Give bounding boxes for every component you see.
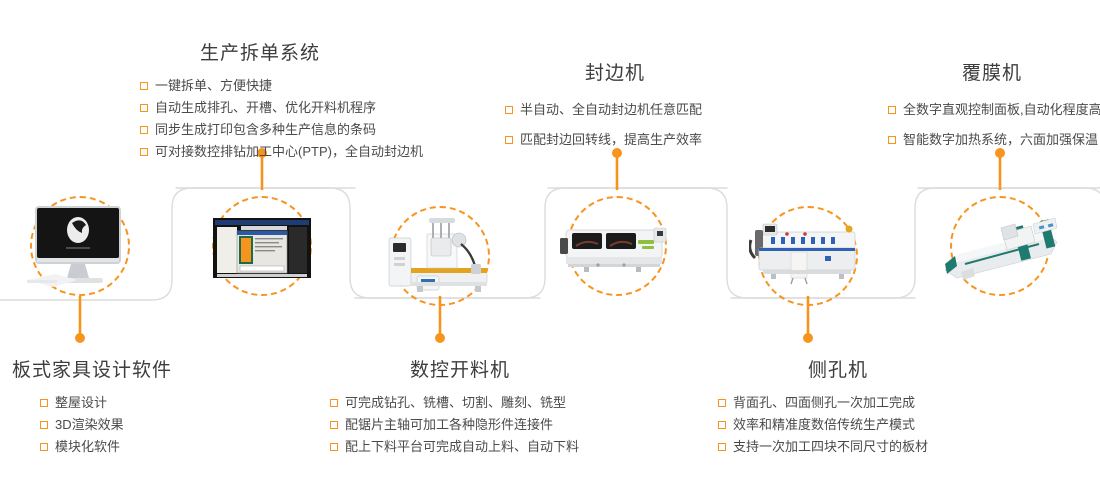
- list-item: 3D渲染效果: [40, 414, 172, 436]
- checkbox-icon: [718, 399, 726, 407]
- list-item: 自动生成排孔、开槽、优化开料机程序: [140, 97, 423, 119]
- feature-list: 可完成钻孔、铣槽、切割、雕刻、铣型 配锯片主轴可加工各种隐形件连接件 配上下料平…: [330, 392, 590, 458]
- checkbox-icon: [140, 82, 148, 90]
- checkbox-icon: [330, 443, 338, 451]
- checkbox-icon: [40, 399, 48, 407]
- edge-bander-icon: [558, 200, 676, 292]
- node-side-hole[interactable]: [758, 206, 858, 306]
- list-item: 可对接数控排钻加工中心(PTP)，全自动封边机: [140, 141, 423, 163]
- list-item-label: 配上下料平台可完成自动上料、自动下料: [345, 436, 579, 458]
- side-drill-icon: [749, 210, 867, 302]
- checkbox-icon: [330, 421, 338, 429]
- checkbox-icon: [888, 136, 896, 144]
- node-edge-banding[interactable]: [567, 196, 667, 296]
- list-item: 全数字直观控制面板,自动化程度高: [888, 95, 1100, 125]
- list-item: 配锯片主轴可加工各种隐形件连接件: [330, 414, 590, 436]
- list-item: 配上下料平台可完成自动上料、自动下料: [330, 436, 590, 458]
- list-item-label: 可对接数控排钻加工中心(PTP)，全自动封边机: [155, 141, 423, 163]
- checkbox-icon: [330, 399, 338, 407]
- list-item: 同步生成打印包含多种生产信息的条码: [140, 119, 423, 141]
- checkbox-icon: [140, 148, 148, 156]
- list-item-label: 全数字直观控制面板,自动化程度高: [903, 95, 1100, 125]
- list-item: 效率和精准度数倍传统生产模式: [718, 414, 958, 436]
- list-item: 支持一次加工四块不同尺寸的板材: [718, 436, 958, 458]
- block-title: 封边机: [505, 58, 725, 85]
- checkbox-icon: [505, 136, 513, 144]
- block-edge-banding: 封边机 半自动、全自动封边机任意匹配 匹配封边回转线，提高生产效率: [505, 58, 725, 155]
- feature-list: 整屋设计 3D渲染效果 模块化软件: [12, 392, 172, 458]
- block-title: 侧孔机: [718, 355, 958, 382]
- cnc-router-icon: [381, 210, 499, 302]
- block-laminating: 覆膜机 全数字直观控制面板,自动化程度高 智能数字加热系统，六面加强保温: [888, 58, 1100, 155]
- list-item-label: 智能数字加热系统，六面加强保温: [903, 125, 1098, 155]
- feature-list: 全数字直观控制面板,自动化程度高 智能数字加热系统，六面加强保温: [888, 95, 1100, 155]
- list-item-label: 3D渲染效果: [55, 414, 124, 436]
- node-design-software[interactable]: [30, 196, 130, 296]
- checkbox-icon: [140, 126, 148, 134]
- block-cnc-cutting: 数控开料机 可完成钻孔、铣槽、切割、雕刻、铣型 配锯片主轴可加工各种隐形件连接件…: [330, 355, 590, 458]
- list-item: 半自动、全自动封边机任意匹配: [505, 95, 725, 125]
- checkbox-icon: [40, 421, 48, 429]
- checkbox-icon: [888, 106, 896, 114]
- feature-list: 一键拆单、方便快捷 自动生成排孔、开槽、优化开料机程序 同步生成打印包含多种生产…: [140, 75, 423, 163]
- checkbox-icon: [40, 443, 48, 451]
- list-item: 整屋设计: [40, 392, 172, 414]
- list-item-label: 可完成钻孔、铣槽、切割、雕刻、铣型: [345, 392, 566, 414]
- feature-list: 半自动、全自动封边机任意匹配 匹配封边回转线，提高生产效率: [505, 95, 725, 155]
- block-title: 数控开料机: [330, 355, 590, 382]
- list-item: 可完成钻孔、铣槽、切割、雕刻、铣型: [330, 392, 590, 414]
- checkbox-icon: [140, 104, 148, 112]
- list-item: 匹配封边回转线，提高生产效率: [505, 125, 725, 155]
- list-item-label: 一键拆单、方便快捷: [155, 75, 272, 97]
- list-item-label: 匹配封边回转线，提高生产效率: [520, 125, 702, 155]
- workflow-infographic: 板式家具设计软件 整屋设计 3D渲染效果 模块化软件 生产拆单系统 一键拆单、方…: [0, 0, 1100, 495]
- list-item-label: 自动生成排孔、开槽、优化开料机程序: [155, 97, 376, 119]
- list-item: 背面孔、四面侧孔一次加工完成: [718, 392, 958, 414]
- node-splitting-system[interactable]: [212, 196, 312, 296]
- node-cnc-cutting[interactable]: [390, 206, 490, 306]
- list-item-label: 配锯片主轴可加工各种隐形件连接件: [345, 414, 553, 436]
- checkbox-icon: [718, 421, 726, 429]
- list-item-label: 模块化软件: [55, 436, 120, 458]
- list-item: 模块化软件: [40, 436, 172, 458]
- checkbox-icon: [505, 106, 513, 114]
- imac-monitor-icon: [21, 200, 139, 292]
- list-item-label: 支持一次加工四块不同尺寸的板材: [733, 436, 928, 458]
- list-item-label: 整屋设计: [55, 392, 107, 414]
- laminator-icon: [941, 200, 1059, 292]
- feature-list: 背面孔、四面侧孔一次加工完成 效率和精准度数倍传统生产模式 支持一次加工四块不同…: [718, 392, 958, 458]
- block-title: 覆膜机: [888, 58, 1096, 85]
- node-laminating[interactable]: [950, 196, 1050, 296]
- block-design-software: 板式家具设计软件 整屋设计 3D渲染效果 模块化软件: [12, 355, 172, 458]
- software-screenshot-icon: [203, 200, 321, 292]
- block-splitting-system: 生产拆单系统 一键拆单、方便快捷 自动生成排孔、开槽、优化开料机程序 同步生成打…: [140, 38, 423, 163]
- list-item-label: 效率和精准度数倍传统生产模式: [733, 414, 915, 436]
- block-side-hole: 侧孔机 背面孔、四面侧孔一次加工完成 效率和精准度数倍传统生产模式 支持一次加工…: [718, 355, 958, 458]
- list-item-label: 背面孔、四面侧孔一次加工完成: [733, 392, 915, 414]
- list-item-label: 半自动、全自动封边机任意匹配: [520, 95, 702, 125]
- block-title: 生产拆单系统: [140, 38, 380, 65]
- list-item-label: 同步生成打印包含多种生产信息的条码: [155, 119, 376, 141]
- block-title: 板式家具设计软件: [12, 355, 172, 382]
- checkbox-icon: [718, 443, 726, 451]
- list-item: 智能数字加热系统，六面加强保温: [888, 125, 1100, 155]
- list-item: 一键拆单、方便快捷: [140, 75, 423, 97]
